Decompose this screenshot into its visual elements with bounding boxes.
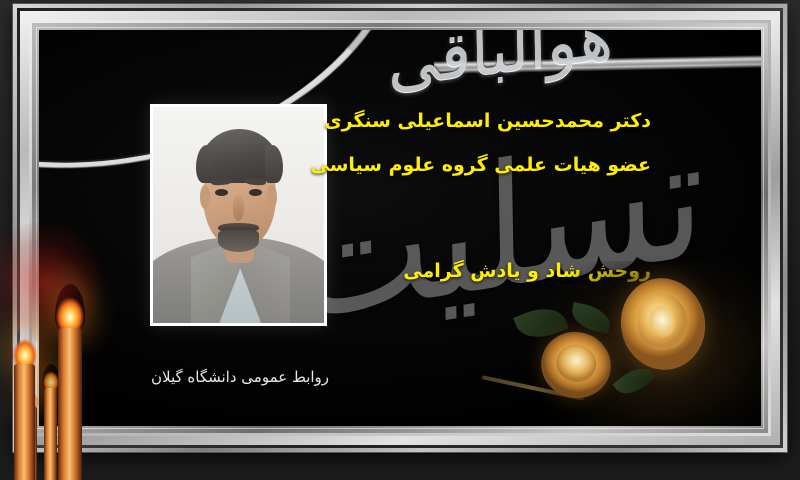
watermark-calligraphy: تسلیت bbox=[290, 98, 706, 360]
portrait-beard bbox=[218, 230, 259, 252]
rose-leaf bbox=[612, 360, 655, 401]
silver-swoosh-decoration bbox=[434, 55, 761, 74]
rose-stem bbox=[482, 375, 585, 401]
condolence-poster: هوالباقی تسلیت bbox=[0, 0, 800, 480]
portrait-photo bbox=[153, 107, 324, 323]
picture-frame: هوالباقی تسلیت bbox=[13, 4, 787, 452]
frame-bevel-inner: هوالباقی تسلیت bbox=[32, 23, 768, 433]
issuer-text: روابط عمومی دانشگاه گیلان bbox=[151, 368, 329, 386]
portrait-ear-right bbox=[267, 185, 277, 209]
deceased-title: عضو هیات علمی گروه علوم سیاسی bbox=[311, 154, 652, 176]
portrait-ear-left bbox=[200, 185, 210, 209]
deceased-name: دکتر محمدحسین اسماعیلی سنگری bbox=[324, 110, 651, 132]
portrait-frame bbox=[150, 104, 327, 326]
condolence-message: روحش شاد و یادش گرامی bbox=[403, 260, 651, 282]
rose-leaf bbox=[513, 300, 569, 346]
frame-bevel-line: هوالباقی تسلیت bbox=[29, 20, 771, 436]
rose-leaf bbox=[569, 302, 613, 334]
portrait-nose bbox=[233, 196, 243, 222]
portrait-hair bbox=[199, 129, 279, 183]
rose-flower bbox=[612, 270, 713, 377]
frame-bevel-outer: هوالباقی تسلیت bbox=[17, 8, 783, 448]
rose-decoration bbox=[511, 261, 761, 426]
frame-bevel-mid: هوالباقی تسلیت bbox=[20, 11, 780, 445]
rose-flower bbox=[534, 325, 618, 406]
poster-canvas: هوالباقی تسلیت bbox=[39, 30, 761, 426]
